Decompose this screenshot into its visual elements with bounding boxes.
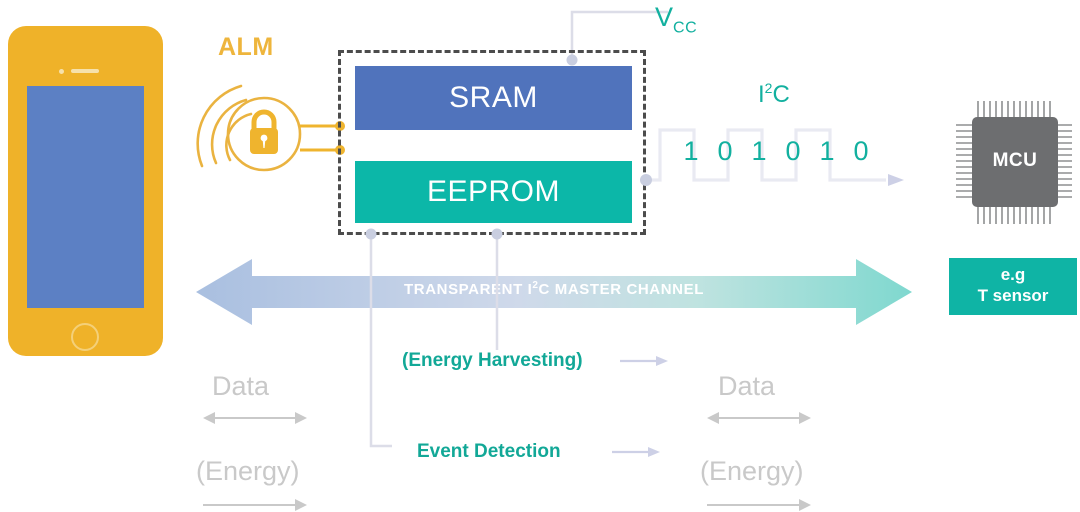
waveform-bit: 0 xyxy=(846,136,876,167)
sensor-line-1: e.g xyxy=(949,264,1077,285)
left-energy-label: (Energy) xyxy=(196,456,300,487)
waveform-bit: 0 xyxy=(778,136,808,167)
diagram-canvas: ALM VCC SRAM EEPROM xyxy=(0,0,1080,512)
phone-speaker-icon xyxy=(71,69,99,73)
waveform-bit: 1 xyxy=(812,136,842,167)
left-data-bidirectional-arrow-icon xyxy=(203,410,307,426)
eeprom-block: EEPROM xyxy=(355,161,632,223)
left-data-label: Data xyxy=(212,371,269,402)
eeprom-label: EEPROM xyxy=(355,175,632,209)
i2c-letter: I xyxy=(758,81,765,108)
smartphone-body xyxy=(8,26,163,356)
event-detection-arrow-icon xyxy=(612,443,660,461)
right-data-bidirectional-arrow-icon xyxy=(707,410,811,426)
annotation-connector-lines xyxy=(330,228,660,458)
event-detection-label: Event Detection xyxy=(417,441,561,463)
phone-home-button-icon xyxy=(71,323,99,351)
waveform-bit: 0 xyxy=(710,136,740,167)
sram-label: SRAM xyxy=(355,81,632,115)
mcu-label: MCU xyxy=(952,150,1078,172)
vcc-subscript: CC xyxy=(673,19,697,36)
waveform-bit: 1 xyxy=(676,136,706,167)
alm-label: ALM xyxy=(218,33,274,62)
energy-harvesting-arrow-icon xyxy=(620,352,668,370)
right-data-label: Data xyxy=(718,371,775,402)
vcc-label: VCC xyxy=(655,2,697,37)
phone-camera-icon xyxy=(59,69,64,74)
right-energy-arrow-icon xyxy=(707,497,811,512)
sram-block: SRAM xyxy=(355,66,632,130)
left-energy-arrow-icon xyxy=(203,497,307,512)
rf-lock-icon xyxy=(196,68,346,178)
waveform-bit: 1 xyxy=(744,136,774,167)
energy-harvesting-label: (Energy Harvesting) xyxy=(402,350,583,372)
i2c-label: I2C xyxy=(758,80,790,109)
phone-screen xyxy=(27,86,144,308)
right-energy-label: (Energy) xyxy=(700,456,804,487)
vcc-letter: V xyxy=(655,2,673,32)
i2c-letter-c: C xyxy=(772,81,789,108)
sensor-label: e.g T sensor xyxy=(949,264,1077,306)
sensor-line-2: T sensor xyxy=(949,285,1077,306)
